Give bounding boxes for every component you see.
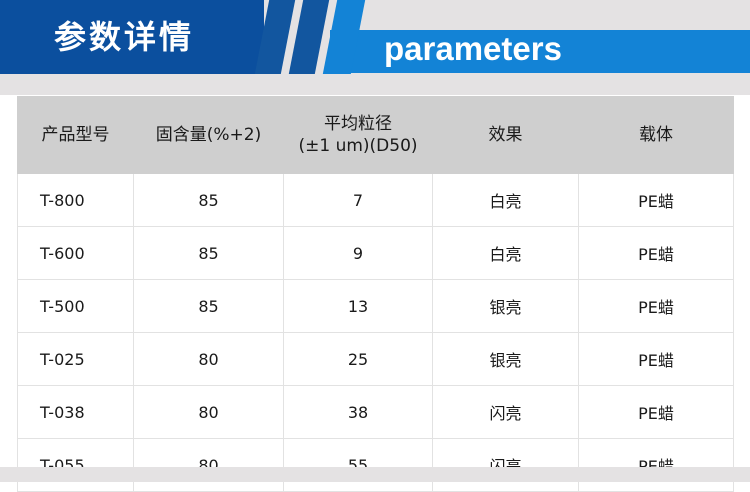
cell-effect: 白亮 [433, 174, 579, 227]
cell-solid-content: 80 [134, 439, 284, 492]
cell-particle-size: 9 [284, 227, 433, 280]
parameters-table: 产品型号 固含量(%+2) 平均粒径 (±1 um)(D50) 效果 载体 T-… [17, 96, 734, 492]
column-header-particle-size: 平均粒径 (±1 um)(D50) [284, 97, 433, 174]
cell-model: T-025 [18, 333, 134, 386]
table-row: T-038 80 38 闪亮 PE蜡 [18, 386, 734, 439]
cell-solid-content: 80 [134, 333, 284, 386]
column-header-solid-content: 固含量(%+2) [134, 97, 284, 174]
cell-carrier: PE蜡 [579, 174, 734, 227]
column-header-particle-size-line2: (±1 um)(D50) [298, 136, 417, 156]
banner-title-english: parameters [384, 26, 562, 72]
column-header-effect: 效果 [433, 97, 579, 174]
cell-carrier: PE蜡 [579, 333, 734, 386]
table-row: T-500 85 13 银亮 PE蜡 [18, 280, 734, 333]
cell-solid-content: 85 [134, 174, 284, 227]
footer-strip [0, 467, 750, 482]
cell-model: T-600 [18, 227, 134, 280]
table-row: T-800 85 7 白亮 PE蜡 [18, 174, 734, 227]
cell-carrier: PE蜡 [579, 280, 734, 333]
cell-effect: 银亮 [433, 333, 579, 386]
cell-effect: 银亮 [433, 280, 579, 333]
cell-solid-content: 85 [134, 280, 284, 333]
table-body: T-800 85 7 白亮 PE蜡 T-600 85 9 白亮 PE蜡 T-50… [18, 174, 734, 492]
page-banner: 参数详情 parameters [0, 0, 750, 95]
cell-model: T-038 [18, 386, 134, 439]
table-row: T-600 85 9 白亮 PE蜡 [18, 227, 734, 280]
cell-model: T-500 [18, 280, 134, 333]
table-header: 产品型号 固含量(%+2) 平均粒径 (±1 um)(D50) 效果 载体 [18, 97, 734, 174]
cell-particle-size: 25 [284, 333, 433, 386]
column-header-carrier: 载体 [579, 97, 734, 174]
cell-effect: 闪亮 [433, 386, 579, 439]
table-row: T-055 80 55 闪亮 PE蜡 [18, 439, 734, 492]
table-row: T-025 80 25 银亮 PE蜡 [18, 333, 734, 386]
cell-carrier: PE蜡 [579, 227, 734, 280]
cell-particle-size: 38 [284, 386, 433, 439]
cell-model: T-800 [18, 174, 134, 227]
cell-particle-size: 13 [284, 280, 433, 333]
cell-effect: 白亮 [433, 227, 579, 280]
cell-solid-content: 85 [134, 227, 284, 280]
column-header-particle-size-line1: 平均粒径 [324, 114, 392, 134]
cell-particle-size: 7 [284, 174, 433, 227]
cell-carrier: PE蜡 [579, 386, 734, 439]
cell-particle-size: 55 [284, 439, 433, 492]
table-header-row: 产品型号 固含量(%+2) 平均粒径 (±1 um)(D50) 效果 载体 [18, 97, 734, 174]
column-header-model: 产品型号 [18, 97, 134, 174]
cell-model: T-055 [18, 439, 134, 492]
cell-solid-content: 80 [134, 386, 284, 439]
cell-carrier: PE蜡 [579, 439, 734, 492]
banner-stripe-2-icon [289, 0, 329, 74]
parameters-table-container: 产品型号 固含量(%+2) 平均粒径 (±1 um)(D50) 效果 载体 T-… [17, 96, 733, 492]
cell-effect: 闪亮 [433, 439, 579, 492]
banner-title-chinese: 参数详情 [54, 16, 254, 58]
